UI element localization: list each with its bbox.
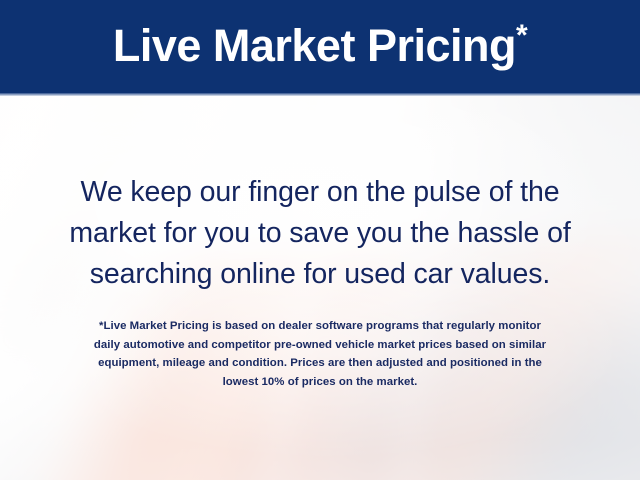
- disclaimer-line: daily automotive and competitor pre-owne…: [22, 336, 618, 355]
- disclaimer-line: lowest 10% of prices on the market.: [22, 373, 618, 392]
- live-market-pricing-banner: Live Market Pricing* We keep our finger …: [0, 0, 640, 480]
- headline-line: searching online for used car values.: [28, 254, 612, 295]
- headline-line: We keep our finger on the pulse of the: [28, 172, 612, 213]
- headline: We keep our finger on the pulse of the m…: [28, 172, 612, 295]
- disclaimer-line: *Live Market Pricing is based on dealer …: [22, 317, 618, 336]
- copy-area: We keep our finger on the pulse of the m…: [0, 93, 640, 480]
- page-title-text: Live Market Pricing: [113, 20, 516, 71]
- headline-line: market for you to save you the hassle of: [28, 213, 612, 254]
- header-band: Live Market Pricing*: [0, 0, 640, 93]
- page-title: Live Market Pricing*: [113, 23, 527, 71]
- disclaimer-line: equipment, mileage and condition. Prices…: [22, 354, 618, 373]
- header-underline-divider: [0, 93, 640, 96]
- page-title-footnote-marker: *: [516, 19, 527, 52]
- disclaimer: *Live Market Pricing is based on dealer …: [22, 317, 618, 391]
